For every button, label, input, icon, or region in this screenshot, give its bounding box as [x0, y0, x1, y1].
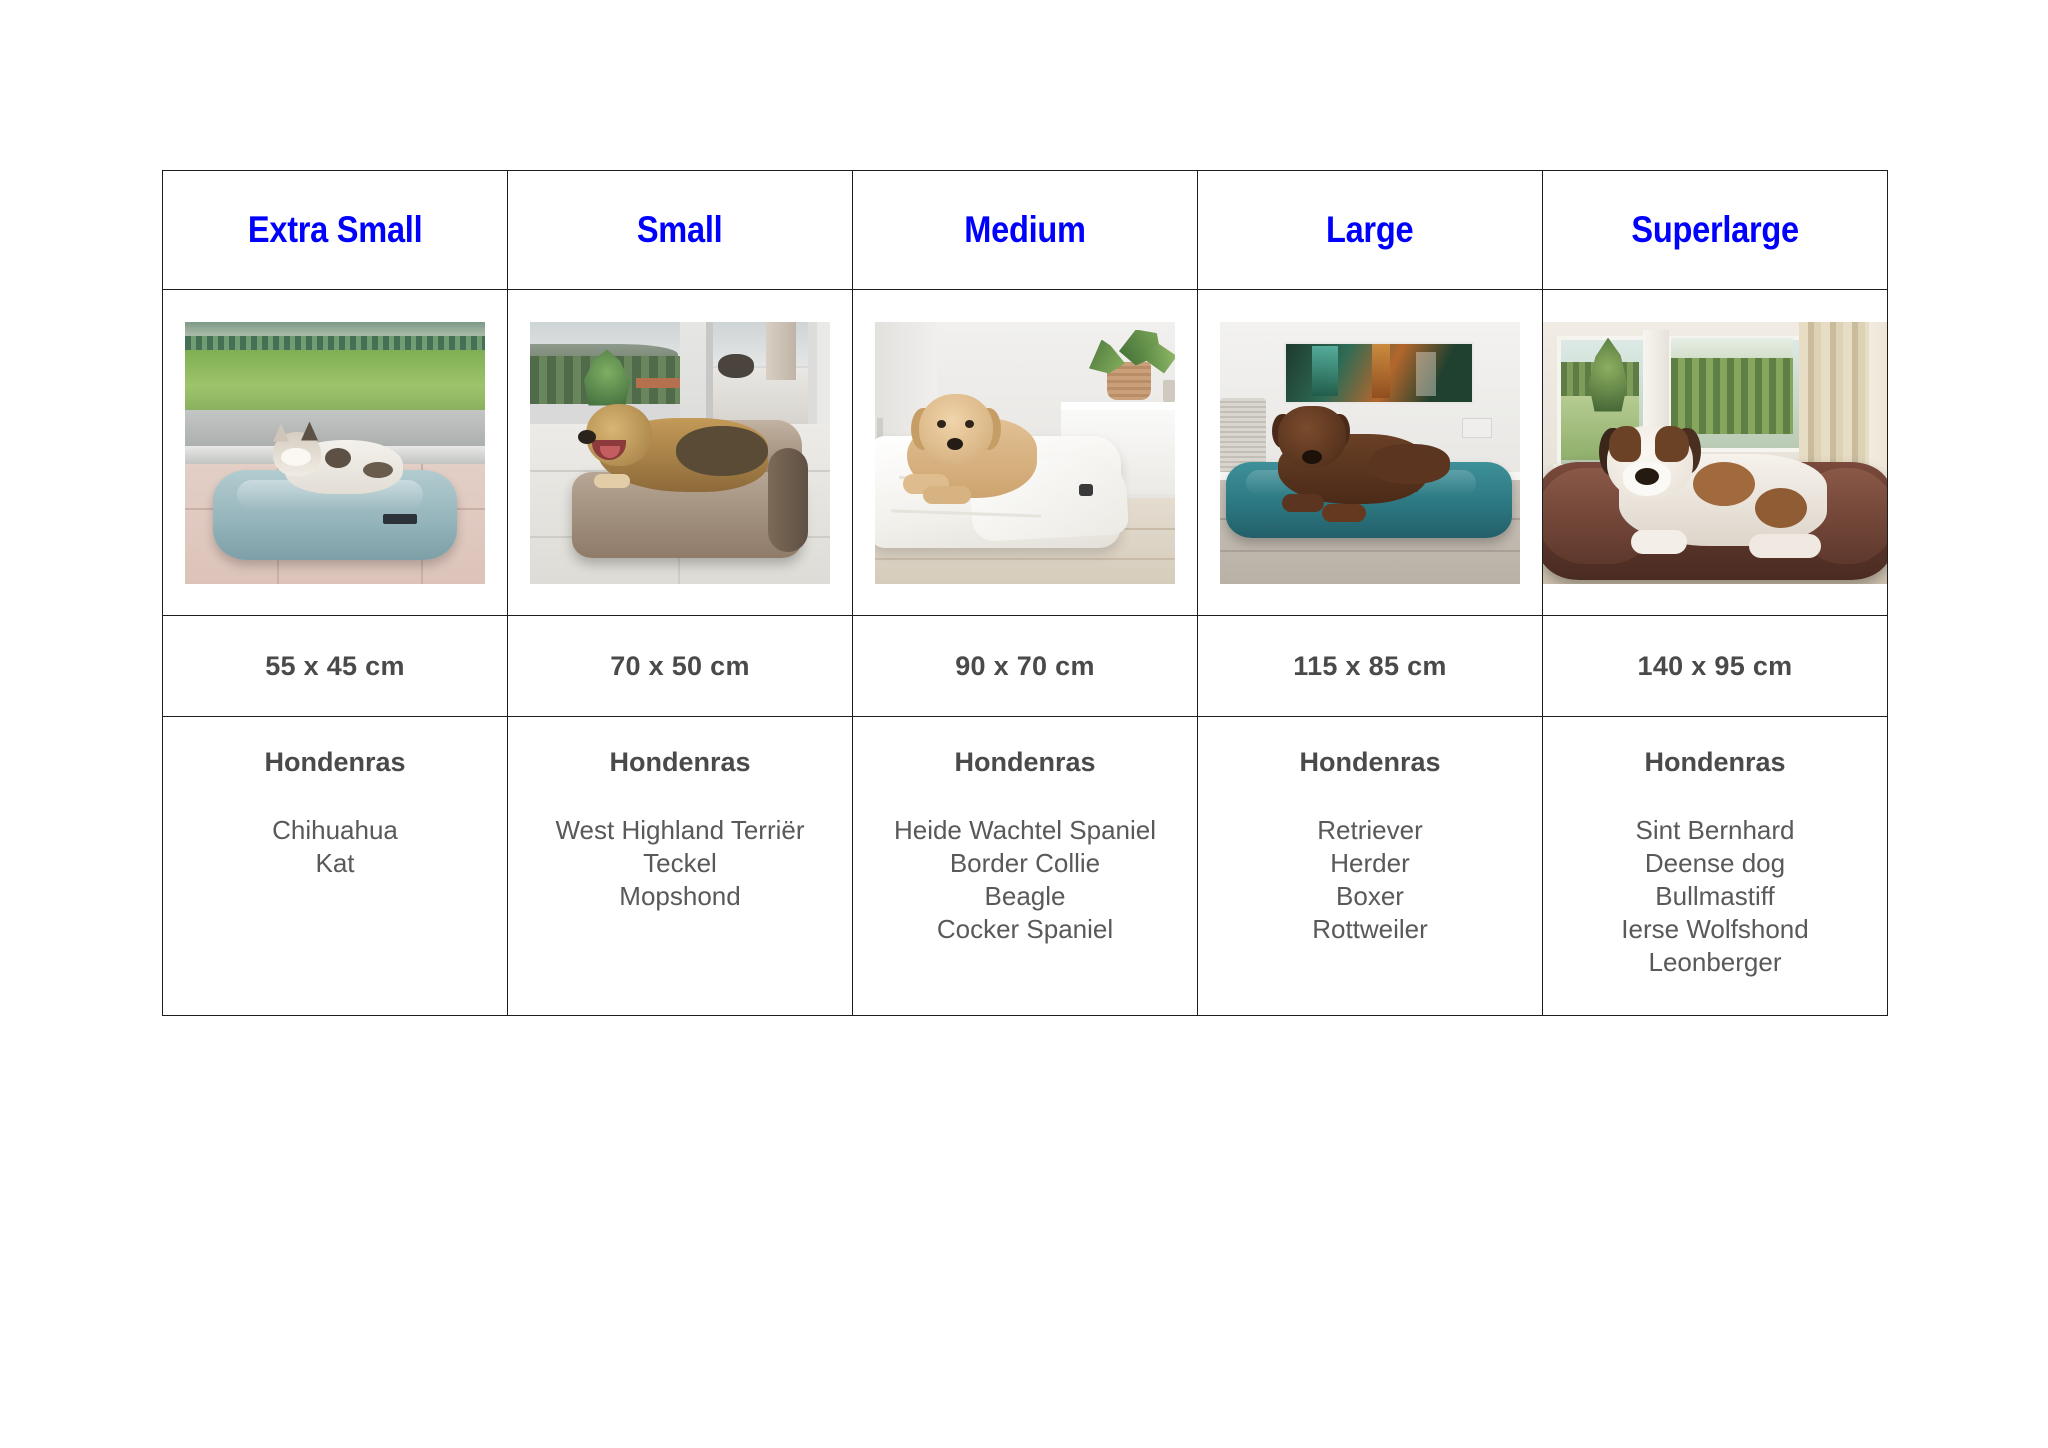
- breed-item: Kat: [163, 847, 507, 880]
- breed-item: Ierse Wolfshond: [1543, 913, 1887, 946]
- photo-labrador-on-teal-bed: [1220, 322, 1520, 584]
- dimension-superlarge: 140 x 95 cm: [1638, 651, 1793, 681]
- breed-item: Beagle: [853, 880, 1197, 913]
- breed-cell-medium: Hondenras Heide Wachtel Spaniel Border C…: [853, 717, 1198, 1016]
- photo-cell-small: [508, 290, 853, 616]
- breed-list-large: Retriever Herder Boxer Rottweiler: [1198, 814, 1542, 946]
- header-cell-superlarge: Superlarge: [1543, 171, 1888, 290]
- header-cell-small: Small: [508, 171, 853, 290]
- breed-list-extra-small: Chihuahua Kat: [163, 814, 507, 880]
- dimension-extra-small: 55 x 45 cm: [265, 651, 405, 681]
- size-label-medium: Medium: [964, 209, 1085, 251]
- breed-item: Heide Wachtel Spaniel: [853, 814, 1197, 847]
- breed-list-medium: Heide Wachtel Spaniel Border Collie Beag…: [853, 814, 1197, 946]
- breed-list-small: West Highland Terriër Teckel Mopshond: [508, 814, 852, 913]
- breed-item: Sint Bernhard: [1543, 814, 1887, 847]
- breed-list-superlarge: Sint Bernhard Deense dog Bullmastiff Ier…: [1543, 814, 1887, 979]
- breed-item: Border Collie: [853, 847, 1197, 880]
- dimension-cell-large: 115 x 85 cm: [1198, 616, 1543, 717]
- photo-saint-bernard-on-brown-bed: [1543, 322, 1887, 584]
- breed-cell-large: Hondenras Retriever Herder Boxer Rottwei…: [1198, 717, 1543, 1016]
- breed-item: Retriever: [1198, 814, 1542, 847]
- breed-item: Teckel: [508, 847, 852, 880]
- breed-item: West Highland Terriër: [508, 814, 852, 847]
- breed-item: Rottweiler: [1198, 913, 1542, 946]
- photo-cell-extra-small: [163, 290, 508, 616]
- size-label-superlarge: Superlarge: [1631, 209, 1798, 251]
- table-breed-row: Hondenras Chihuahua Kat Hondenras West H…: [163, 717, 1888, 1016]
- dimension-medium: 90 x 70 cm: [955, 651, 1095, 681]
- breed-cell-small: Hondenras West Highland Terriër Teckel M…: [508, 717, 853, 1016]
- dimension-cell-medium: 90 x 70 cm: [853, 616, 1198, 717]
- photo-cell-medium: [853, 290, 1198, 616]
- dimension-cell-small: 70 x 50 cm: [508, 616, 853, 717]
- breed-item: Leonberger: [1543, 946, 1887, 979]
- dimension-cell-extra-small: 55 x 45 cm: [163, 616, 508, 717]
- breed-item: Bullmastiff: [1543, 880, 1887, 913]
- table-dimension-row: 55 x 45 cm 70 x 50 cm 90 x 70 cm 115 x 8…: [163, 616, 1888, 717]
- breed-heading-extra-small: Hondenras: [163, 747, 507, 778]
- dimension-small: 70 x 50 cm: [610, 651, 750, 681]
- size-label-extra-small: Extra Small: [248, 209, 422, 251]
- breed-heading-small: Hondenras: [508, 747, 852, 778]
- photo-cell-superlarge: [1543, 290, 1888, 616]
- breed-item: Chihuahua: [163, 814, 507, 847]
- dog-bed-size-table: Extra Small Small Medium Large Superlarg…: [162, 170, 1888, 1016]
- breed-item: Deense dog: [1543, 847, 1887, 880]
- table-photo-row: [163, 290, 1888, 616]
- header-cell-medium: Medium: [853, 171, 1198, 290]
- breed-cell-extra-small: Hondenras Chihuahua Kat: [163, 717, 508, 1016]
- header-cell-extra-small: Extra Small: [163, 171, 508, 290]
- breed-item: Cocker Spaniel: [853, 913, 1197, 946]
- breed-item: Herder: [1198, 847, 1542, 880]
- photo-cat-on-light-blue-bed: [185, 322, 485, 584]
- breed-cell-superlarge: Hondenras Sint Bernhard Deense dog Bullm…: [1543, 717, 1888, 1016]
- page-canvas: Extra Small Small Medium Large Superlarg…: [0, 0, 2048, 1448]
- table-header-row: Extra Small Small Medium Large Superlarg…: [163, 171, 1888, 290]
- breed-item: Boxer: [1198, 880, 1542, 913]
- dimension-large: 115 x 85 cm: [1293, 651, 1446, 681]
- photo-cell-large: [1198, 290, 1543, 616]
- dimension-cell-superlarge: 140 x 95 cm: [1543, 616, 1888, 717]
- breed-item: Mopshond: [508, 880, 852, 913]
- size-label-small: Small: [637, 209, 723, 251]
- breed-heading-superlarge: Hondenras: [1543, 747, 1887, 778]
- breed-heading-medium: Hondenras: [853, 747, 1197, 778]
- photo-terrier-on-taupe-bed: [530, 322, 830, 584]
- photo-cockapoo-on-white-bed: [875, 322, 1175, 584]
- size-label-large: Large: [1326, 209, 1413, 251]
- header-cell-large: Large: [1198, 171, 1543, 290]
- breed-heading-large: Hondenras: [1198, 747, 1542, 778]
